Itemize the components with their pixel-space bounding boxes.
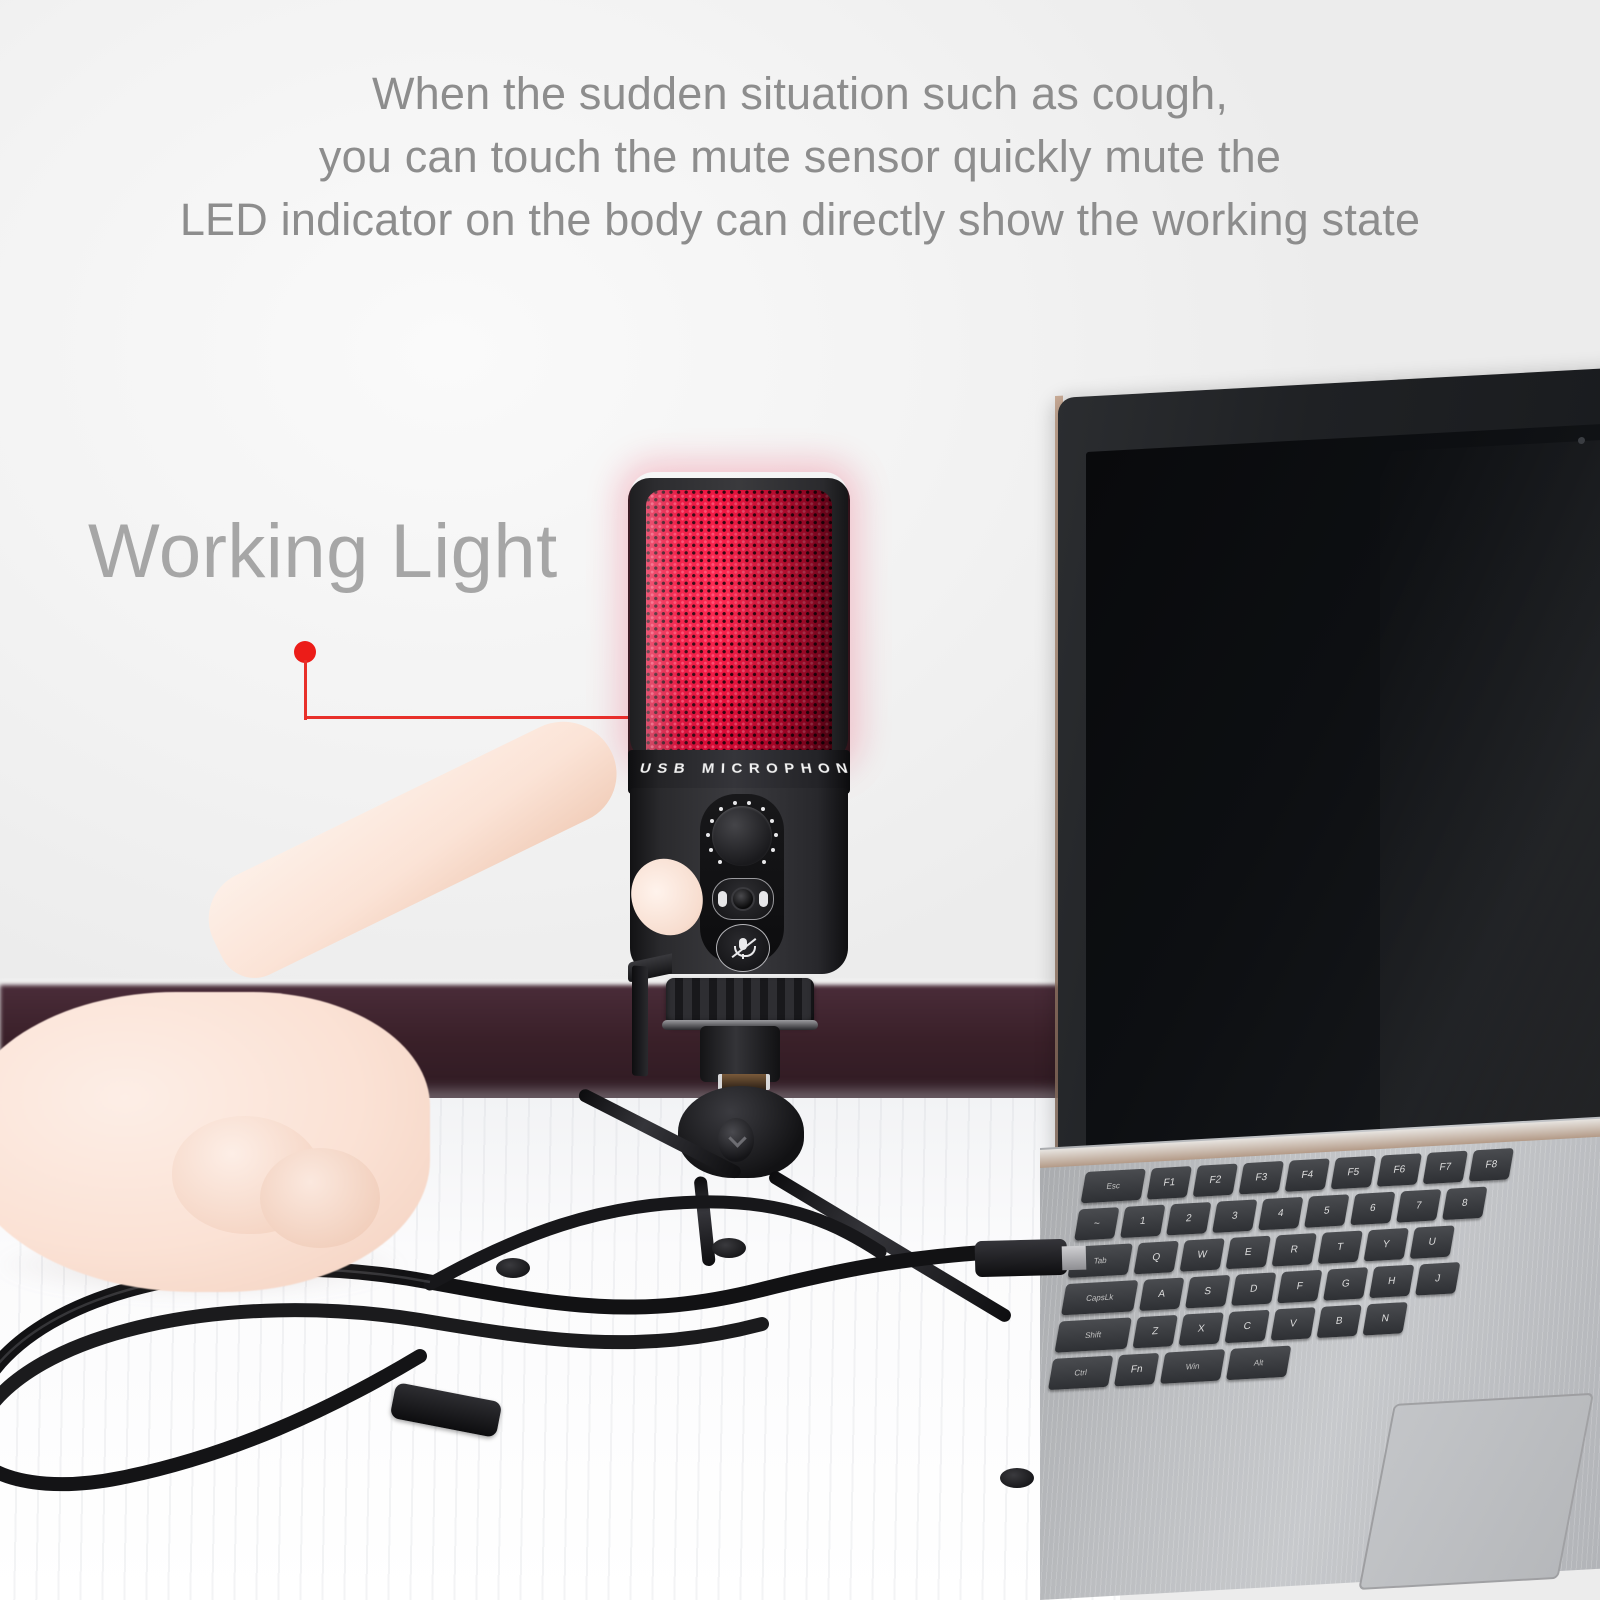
usb-connector	[975, 1239, 1068, 1277]
key-2[interactable]: 2	[1166, 1202, 1211, 1236]
key-4[interactable]: 4	[1258, 1197, 1303, 1231]
headphone-jack[interactable]	[712, 878, 774, 920]
key-n[interactable]: N	[1362, 1302, 1407, 1336]
key-f7[interactable]: F7	[1423, 1151, 1468, 1185]
key-u[interactable]: U	[1409, 1225, 1454, 1259]
mute-sensor-button[interactable]	[716, 924, 770, 972]
key-j[interactable]: J	[1415, 1262, 1460, 1296]
key-y[interactable]: Y	[1363, 1228, 1408, 1262]
usb-connector-tip	[1062, 1246, 1087, 1271]
headline-line-1: When the sudden situation such as cough,	[0, 62, 1600, 125]
key-e[interactable]: E	[1225, 1236, 1270, 1270]
key-c[interactable]: C	[1224, 1310, 1269, 1344]
headset-icon-right-cup	[759, 891, 768, 907]
volume-knob-indicator-dots	[702, 796, 782, 876]
working-light-label: Working Light	[88, 512, 558, 592]
mute-mic-icon	[730, 935, 756, 961]
mic-brand-text: USB MICROPHONE	[638, 761, 842, 777]
key-v[interactable]: V	[1270, 1307, 1315, 1341]
key-alt[interactable]: Alt	[1226, 1346, 1291, 1381]
key-g[interactable]: G	[1323, 1267, 1368, 1301]
key-3[interactable]: 3	[1212, 1199, 1257, 1233]
key-t[interactable]: T	[1317, 1231, 1362, 1265]
key-w[interactable]: W	[1179, 1238, 1224, 1272]
key-f4[interactable]: F4	[1285, 1158, 1330, 1192]
key-a[interactable]: A	[1139, 1277, 1184, 1311]
tripod-tilt-knob[interactable]	[718, 1118, 754, 1162]
callout-line-horizontal	[304, 716, 659, 719]
headline-line-2: you can touch the mute sensor quickly mu…	[0, 125, 1600, 188]
hand	[0, 880, 720, 1300]
key-win[interactable]: Win	[1160, 1349, 1225, 1384]
key-5[interactable]: 5	[1304, 1194, 1349, 1228]
key-7[interactable]: 7	[1396, 1189, 1441, 1223]
key-1[interactable]: 1	[1120, 1205, 1165, 1239]
key-fn[interactable]: Fn	[1114, 1353, 1159, 1387]
laptop-screen-reflection	[1380, 437, 1600, 1162]
key-x[interactable]: X	[1178, 1312, 1223, 1346]
mic-led-grille	[646, 490, 832, 752]
key-f8[interactable]: F8	[1469, 1148, 1514, 1182]
product-feature-image: When the sudden situation such as cough,…	[0, 0, 1600, 1600]
key-h[interactable]: H	[1369, 1265, 1414, 1299]
key-f6[interactable]: F6	[1377, 1153, 1422, 1187]
key-f2[interactable]: F2	[1193, 1164, 1238, 1198]
callout-line-vertical	[304, 660, 307, 720]
key-8[interactable]: 8	[1442, 1187, 1487, 1221]
laptop-keyboard[interactable]: EscF1F2F3F4F5F6F7F8~12345678TabQWERTYUCa…	[1051, 1143, 1600, 1374]
key-f[interactable]: F	[1277, 1270, 1322, 1304]
key-q[interactable]: Q	[1133, 1241, 1178, 1275]
headline-line-3: LED indicator on the body can directly s…	[0, 188, 1600, 251]
headset-icon-port	[731, 887, 755, 911]
headline-text: When the sudden situation such as cough,…	[0, 62, 1600, 251]
key-f5[interactable]: F5	[1331, 1156, 1376, 1190]
key-r[interactable]: R	[1271, 1233, 1316, 1267]
key-f1[interactable]: F1	[1147, 1166, 1192, 1200]
key-6[interactable]: 6	[1350, 1192, 1395, 1226]
key-z[interactable]: Z	[1132, 1315, 1177, 1349]
key-b[interactable]: B	[1316, 1305, 1361, 1339]
key-d[interactable]: D	[1231, 1272, 1276, 1306]
key-s[interactable]: S	[1185, 1275, 1230, 1309]
mic-grille-shading	[646, 490, 832, 752]
key-f3[interactable]: F3	[1239, 1161, 1284, 1195]
trackpad[interactable]	[1358, 1393, 1594, 1590]
knuckle	[260, 1148, 380, 1248]
